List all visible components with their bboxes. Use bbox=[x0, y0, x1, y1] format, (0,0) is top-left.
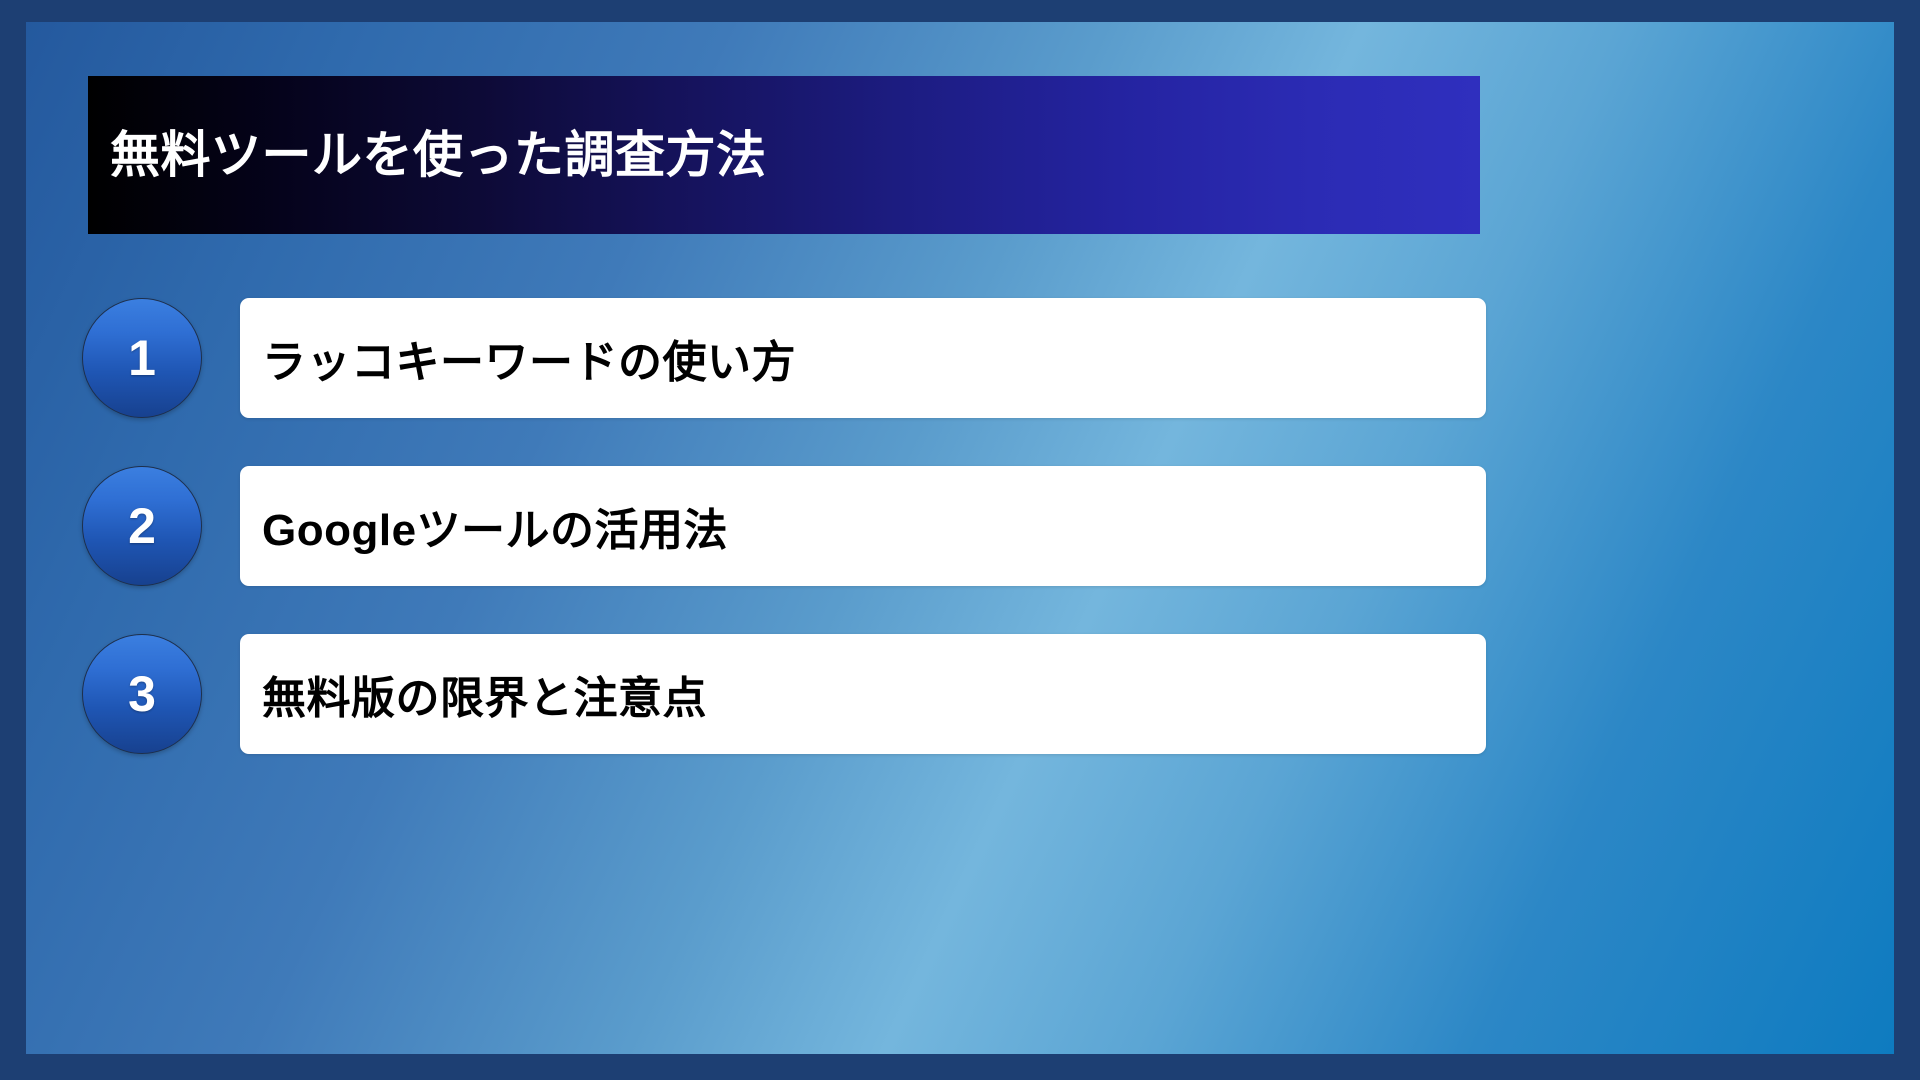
item-card-label: Googleツールの活用法 bbox=[262, 494, 728, 558]
item-number-badge: 2 bbox=[82, 466, 202, 586]
list-item[interactable]: 2 Googleツールの活用法 bbox=[66, 466, 1486, 586]
list-item[interactable]: 1 ラッコキーワードの使い方 bbox=[66, 298, 1486, 418]
item-card-label: 無料版の限界と注意点 bbox=[262, 662, 707, 726]
item-card[interactable]: ラッコキーワードの使い方 bbox=[240, 298, 1486, 418]
slide-title-band: 無料ツールを使った調査方法 bbox=[88, 76, 1480, 234]
item-number-label: 2 bbox=[128, 501, 156, 551]
item-number-badge: 1 bbox=[82, 298, 202, 418]
item-card[interactable]: Googleツールの活用法 bbox=[240, 466, 1486, 586]
item-number-label: 3 bbox=[128, 669, 156, 719]
numbered-item-list: 1 ラッコキーワードの使い方 2 Googleツールの活用法 3 bbox=[66, 298, 1486, 754]
item-card-label: ラッコキーワードの使い方 bbox=[262, 326, 796, 390]
list-item[interactable]: 3 無料版の限界と注意点 bbox=[66, 634, 1486, 754]
slide-root: 無料ツールを使った調査方法 1 ラッコキーワードの使い方 2 Googleツール… bbox=[0, 0, 1920, 1080]
item-card[interactable]: 無料版の限界と注意点 bbox=[240, 634, 1486, 754]
item-number-label: 1 bbox=[128, 333, 156, 383]
slide-canvas: 無料ツールを使った調査方法 1 ラッコキーワードの使い方 2 Googleツール… bbox=[26, 22, 1894, 1054]
item-number-badge: 3 bbox=[82, 634, 202, 754]
slide-title: 無料ツールを使った調査方法 bbox=[110, 128, 767, 183]
